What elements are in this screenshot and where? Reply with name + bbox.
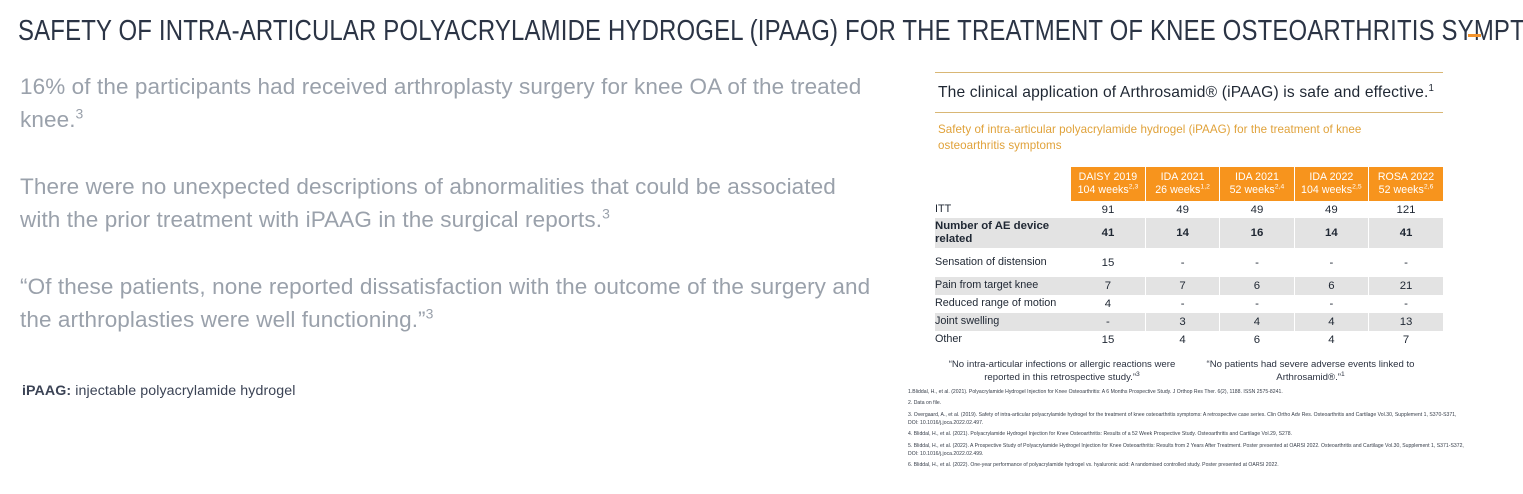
study-period-0: 104 weeks	[1078, 184, 1129, 196]
body-paragraph-3-text: “Of these patients, none reported dissat…	[20, 274, 870, 332]
cell-6-2: 6	[1220, 331, 1294, 349]
study-name-1: IDA 2021	[1161, 171, 1205, 183]
abbreviation-definition: injectable polyacrylamide hydrogel	[71, 383, 295, 399]
adverse-events-table: DAISY 2019 104 weeks2,3 IDA 2021 26 week…	[935, 167, 1443, 349]
reference-list: 1.Bliddal, H., et al. (2021). Polyacryla…	[908, 388, 1508, 473]
cell-2-1: -	[1145, 248, 1219, 277]
table-column-header-3: IDA 2022 104 weeks2,5	[1294, 167, 1368, 201]
study-ref-4: 2,6	[1424, 183, 1434, 190]
reference-item-4: 4. Bliddal, H., et al. (2021). Polyacryl…	[908, 430, 1468, 438]
table-footnote-left-text: “No intra-articular infections or allerg…	[949, 359, 1176, 383]
row-label-2: Sensation of distension	[935, 248, 1071, 277]
cell-0-3: 49	[1294, 201, 1368, 218]
table-row: Pain from target knee 7 7 6 6 21	[935, 277, 1443, 295]
row-label-5: Joint swelling	[935, 313, 1071, 331]
body-paragraph-1-text: 16% of the participants had received art…	[20, 74, 861, 132]
body-paragraph-1: 16% of the participants had received art…	[20, 70, 880, 136]
table-column-header-2: IDA 2021 52 weeks2,4	[1220, 167, 1294, 201]
cell-5-3: 4	[1294, 313, 1368, 331]
table-corner-cell	[935, 167, 1071, 201]
cell-3-2: 6	[1220, 277, 1294, 295]
row-label-4: Reduced range of motion	[935, 295, 1071, 313]
table-column-header-0: DAISY 2019 104 weeks2,3	[1071, 167, 1145, 201]
cell-0-1: 49	[1145, 201, 1219, 218]
table-row: Joint swelling - 3 4 4 13	[935, 313, 1443, 331]
cell-6-0: 15	[1071, 331, 1145, 349]
left-content-column: 16% of the participants had received art…	[20, 70, 880, 370]
row-label-0: ITT	[935, 201, 1071, 218]
table-footnote-right: “No patients had severe adverse events l…	[1203, 359, 1418, 384]
cell-6-4: 7	[1369, 331, 1443, 349]
study-ref-2: 2,4	[1275, 183, 1285, 190]
cell-0-4: 121	[1369, 201, 1443, 218]
study-name-3: IDA 2022	[1309, 171, 1353, 183]
body-paragraph-2-text: There were no unexpected descriptions of…	[20, 174, 836, 232]
cell-2-3: -	[1294, 248, 1368, 277]
study-period-4: 52 weeks	[1379, 184, 1424, 196]
cell-4-4: -	[1369, 295, 1443, 313]
table-column-header-1: IDA 2021 26 weeks1,2	[1145, 167, 1219, 201]
cell-0-0: 91	[1071, 201, 1145, 218]
panel-subtitle: Safety of intra-articular polyacrylamide…	[900, 113, 1408, 153]
cell-3-3: 6	[1294, 277, 1368, 295]
cell-2-4: -	[1369, 248, 1443, 277]
cell-1-3: 14	[1294, 218, 1368, 248]
panel-headline: The clinical application of Arthrosamid®…	[900, 73, 1510, 112]
table-header-row: DAISY 2019 104 weeks2,3 IDA 2021 26 week…	[935, 167, 1443, 201]
cell-4-1: -	[1145, 295, 1219, 313]
cell-6-3: 4	[1294, 331, 1368, 349]
cell-2-0: 15	[1071, 248, 1145, 277]
cell-1-4: 41	[1369, 218, 1443, 248]
reference-item-5: 5. Bliddal, H., et al. (2022). A Prospec…	[908, 442, 1468, 458]
cell-3-1: 7	[1145, 277, 1219, 295]
abbreviation-term: iPAAG:	[22, 383, 71, 399]
table-footnote-right-text: “No patients had severe adverse events l…	[1207, 359, 1415, 383]
cell-3-0: 7	[1071, 277, 1145, 295]
table-head: DAISY 2019 104 weeks2,3 IDA 2021 26 week…	[935, 167, 1443, 201]
adverse-events-table-wrapper: DAISY 2019 104 weeks2,3 IDA 2021 26 week…	[935, 167, 1443, 349]
cell-4-3: -	[1294, 295, 1368, 313]
body-paragraph-3-reference: 3	[426, 306, 434, 322]
table-row: Other 15 4 6 4 7	[935, 331, 1443, 349]
table-footnote-left-reference: 3	[1136, 370, 1140, 377]
study-ref-3: 2,5	[1352, 183, 1362, 190]
row-label-3: Pain from target knee	[935, 277, 1071, 295]
cell-3-4: 21	[1369, 277, 1443, 295]
table-body: ITT 91 49 49 49 121 Number of AE device …	[935, 201, 1443, 349]
table-row: ITT 91 49 49 49 121	[935, 201, 1443, 218]
table-column-header-4: ROSA 2022 52 weeks2,6	[1369, 167, 1443, 201]
cell-0-2: 49	[1220, 201, 1294, 218]
cell-4-2: -	[1220, 295, 1294, 313]
body-paragraph-1-reference: 3	[76, 106, 84, 122]
table-footnotes: “No intra-articular infections or allerg…	[935, 359, 1443, 391]
cell-5-4: 13	[1369, 313, 1443, 331]
cell-1-1: 14	[1145, 218, 1219, 248]
study-ref-1: 1,2	[1200, 183, 1210, 190]
study-period-2: 52 weeks	[1230, 184, 1275, 196]
table-footnote-left: “No intra-articular infections or allerg…	[937, 359, 1187, 384]
cell-5-1: 3	[1145, 313, 1219, 331]
cell-5-0: -	[1071, 313, 1145, 331]
table-row: Number of AE device related 41 14 16 14 …	[935, 218, 1443, 248]
panel-headline-reference: 1	[1428, 83, 1434, 94]
reference-item-6: 6. Bliddal, H., et al. (2022). One-year …	[908, 461, 1468, 469]
study-name-2: IDA 2021	[1235, 171, 1279, 183]
table-row: Sensation of distension 15 - - - -	[935, 248, 1443, 277]
page-title: SAFETY OF INTRA-ARTICULAR POLYACRYLAMIDE…	[18, 14, 1194, 48]
panel-headline-text: The clinical application of Arthrosamid®…	[938, 84, 1428, 101]
reference-item-3: 3. Overgaard, A., et al. (2019). Safety …	[908, 411, 1468, 427]
title-accent-dash	[1468, 34, 1481, 37]
study-ref-0: 2,3	[1129, 183, 1139, 190]
reference-item-2: 2. Data on file.	[908, 399, 1468, 407]
body-paragraph-2-reference: 3	[602, 206, 610, 222]
reference-item-1: 1.Bliddal, H., et al. (2021). Polyacryla…	[908, 388, 1468, 396]
row-label-1: Number of AE device related	[935, 218, 1071, 248]
study-name-4: ROSA 2022	[1378, 171, 1434, 183]
cell-1-2: 16	[1220, 218, 1294, 248]
study-period-3: 104 weeks	[1301, 184, 1352, 196]
cell-2-2: -	[1220, 248, 1294, 277]
study-name-0: DAISY 2019	[1079, 171, 1138, 183]
cell-6-1: 4	[1145, 331, 1219, 349]
cell-1-0: 41	[1071, 218, 1145, 248]
body-paragraph-3: “Of these patients, none reported dissat…	[20, 270, 880, 336]
cell-5-2: 4	[1220, 313, 1294, 331]
row-label-6: Other	[935, 331, 1071, 349]
table-row: Reduced range of motion 4 - - - -	[935, 295, 1443, 313]
body-paragraph-2: There were no unexpected descriptions of…	[20, 170, 880, 236]
study-period-1: 26 weeks	[1155, 184, 1200, 196]
cell-4-0: 4	[1071, 295, 1145, 313]
table-footnote-right-reference: 1	[1341, 370, 1345, 377]
abbreviation-note: iPAAG: injectable polyacrylamide hydroge…	[22, 383, 296, 399]
